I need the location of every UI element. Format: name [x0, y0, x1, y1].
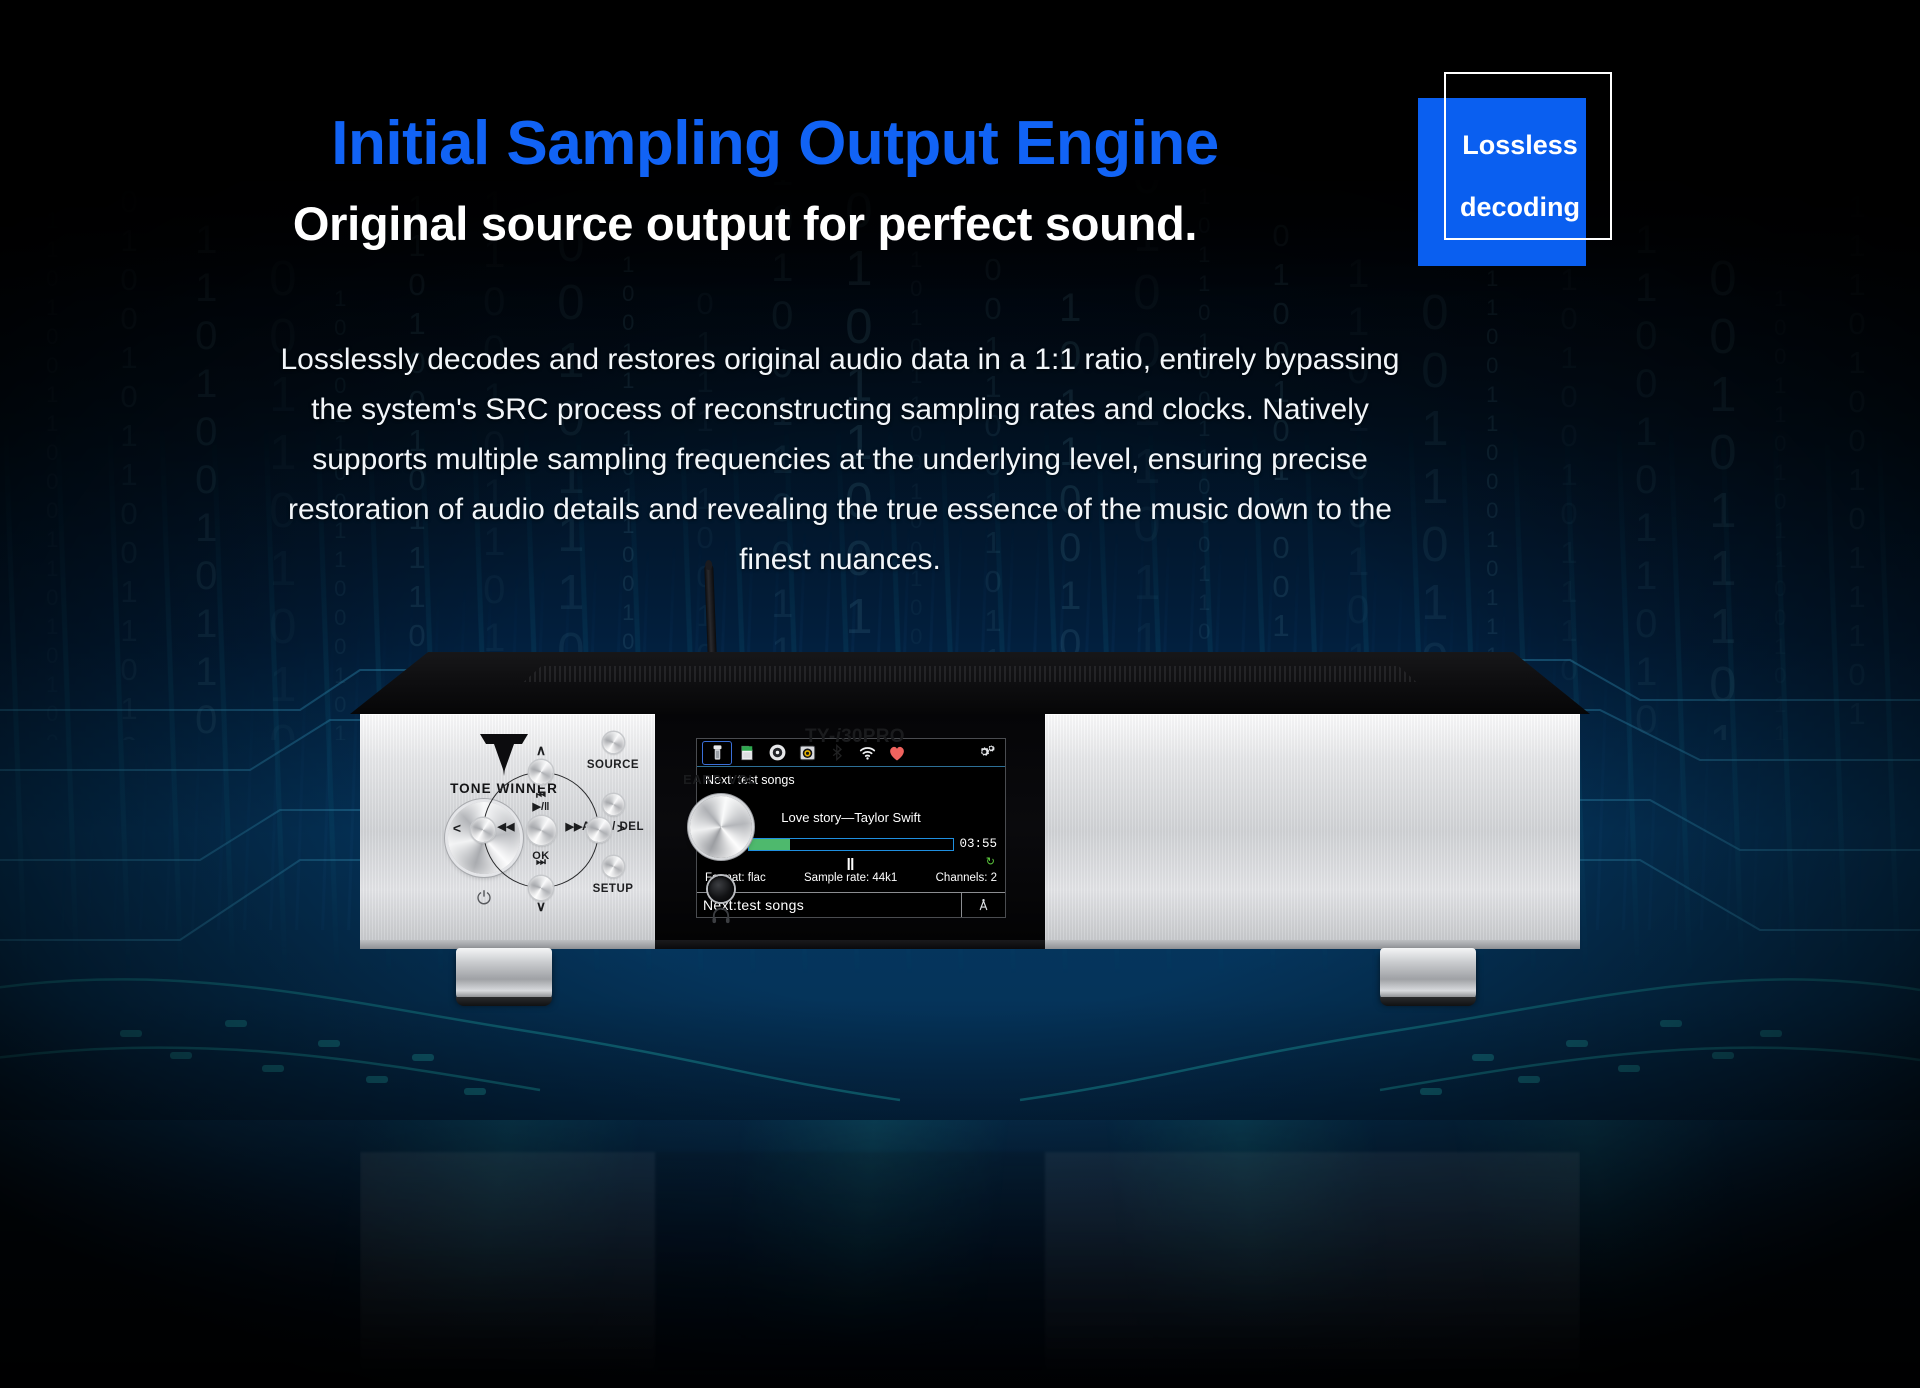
rewind-icon: ◀◀ — [495, 820, 517, 833]
lcd-channels-label: Channels: 2 — [936, 872, 997, 884]
volume-label: EARP. VOL — [660, 772, 780, 787]
lcd-duration-time: 03:55 — [959, 837, 997, 851]
headphone-jack[interactable] — [708, 876, 734, 902]
settings-gear-icon[interactable] — [970, 741, 1000, 765]
nav-left-button[interactable] — [471, 818, 495, 842]
icon-bar-spacer — [912, 741, 970, 765]
lossless-decoding-badge: Lossless decoding — [1418, 72, 1618, 272]
device-foot-left — [456, 948, 552, 1000]
page-subtitle: Original source output for perfect sound… — [120, 196, 1370, 251]
nav-up-label: ∧ — [529, 742, 553, 759]
page-title: Initial Sampling Output Engine — [180, 108, 1370, 179]
lcd-progress-bar[interactable] — [748, 838, 955, 851]
model-suffix: 30PRO — [841, 726, 905, 747]
nav-left-label: < — [447, 820, 467, 836]
badge-line-1: Lossless — [1434, 114, 1606, 176]
device-bottom-lip-center — [655, 940, 1045, 949]
device-top-panel — [350, 652, 1590, 714]
badge-text: Lossless decoding — [1434, 114, 1606, 238]
lcd-repeat-icon: ↻ — [986, 855, 995, 868]
description-paragraph: Losslessly decodes and restores original… — [280, 335, 1400, 585]
sd-card-icon[interactable] — [732, 741, 762, 765]
next-track-icon: ⏭ — [519, 856, 563, 869]
disc-icon[interactable] — [762, 741, 792, 765]
nav-ok-button[interactable] — [527, 816, 556, 845]
nav-right-button[interactable] — [587, 818, 611, 842]
badge-line-2: decoding — [1434, 176, 1606, 238]
navigation-pad: ∧ ∨ < > ⏮ ▶/‖ OK ⏭ ◀◀ ▶▶ — [455, 752, 625, 912]
headphone-icon — [696, 906, 746, 929]
forward-icon: ▶▶ — [563, 820, 585, 833]
nav-up-button[interactable] — [529, 760, 553, 784]
device-front-right-panel — [1045, 714, 1580, 940]
audio-player-device: TONE WINNER ⏻ SOURCE ADD / DEL SETUP — [360, 700, 1580, 1130]
play-pause-icon: ▶/‖ — [515, 800, 567, 813]
lcd-progress-fill — [749, 839, 790, 850]
device-foot-right — [1380, 948, 1476, 1000]
lcd-sample-rate-label: Sample rate: 44k1 — [804, 872, 897, 884]
promo-banner: 1011010011000110101001010010110011010110… — [0, 0, 1920, 1388]
nav-right-label: > — [611, 820, 631, 836]
source-button[interactable] — [603, 732, 624, 753]
lcd-metadata-row: Format: flac Sample rate: 44k1 Channels:… — [705, 872, 997, 884]
antenna-icon — [961, 893, 1005, 917]
usb-drive-icon[interactable] — [702, 741, 732, 765]
model-prefix: TY- — [805, 726, 835, 747]
earphone-volume-knob[interactable] — [690, 796, 752, 858]
nav-down-label: ∨ — [529, 898, 553, 915]
ventilation-grille — [524, 666, 1417, 682]
device-model-label: TY-i30PRO — [805, 726, 905, 748]
nav-down-button[interactable] — [529, 876, 553, 900]
